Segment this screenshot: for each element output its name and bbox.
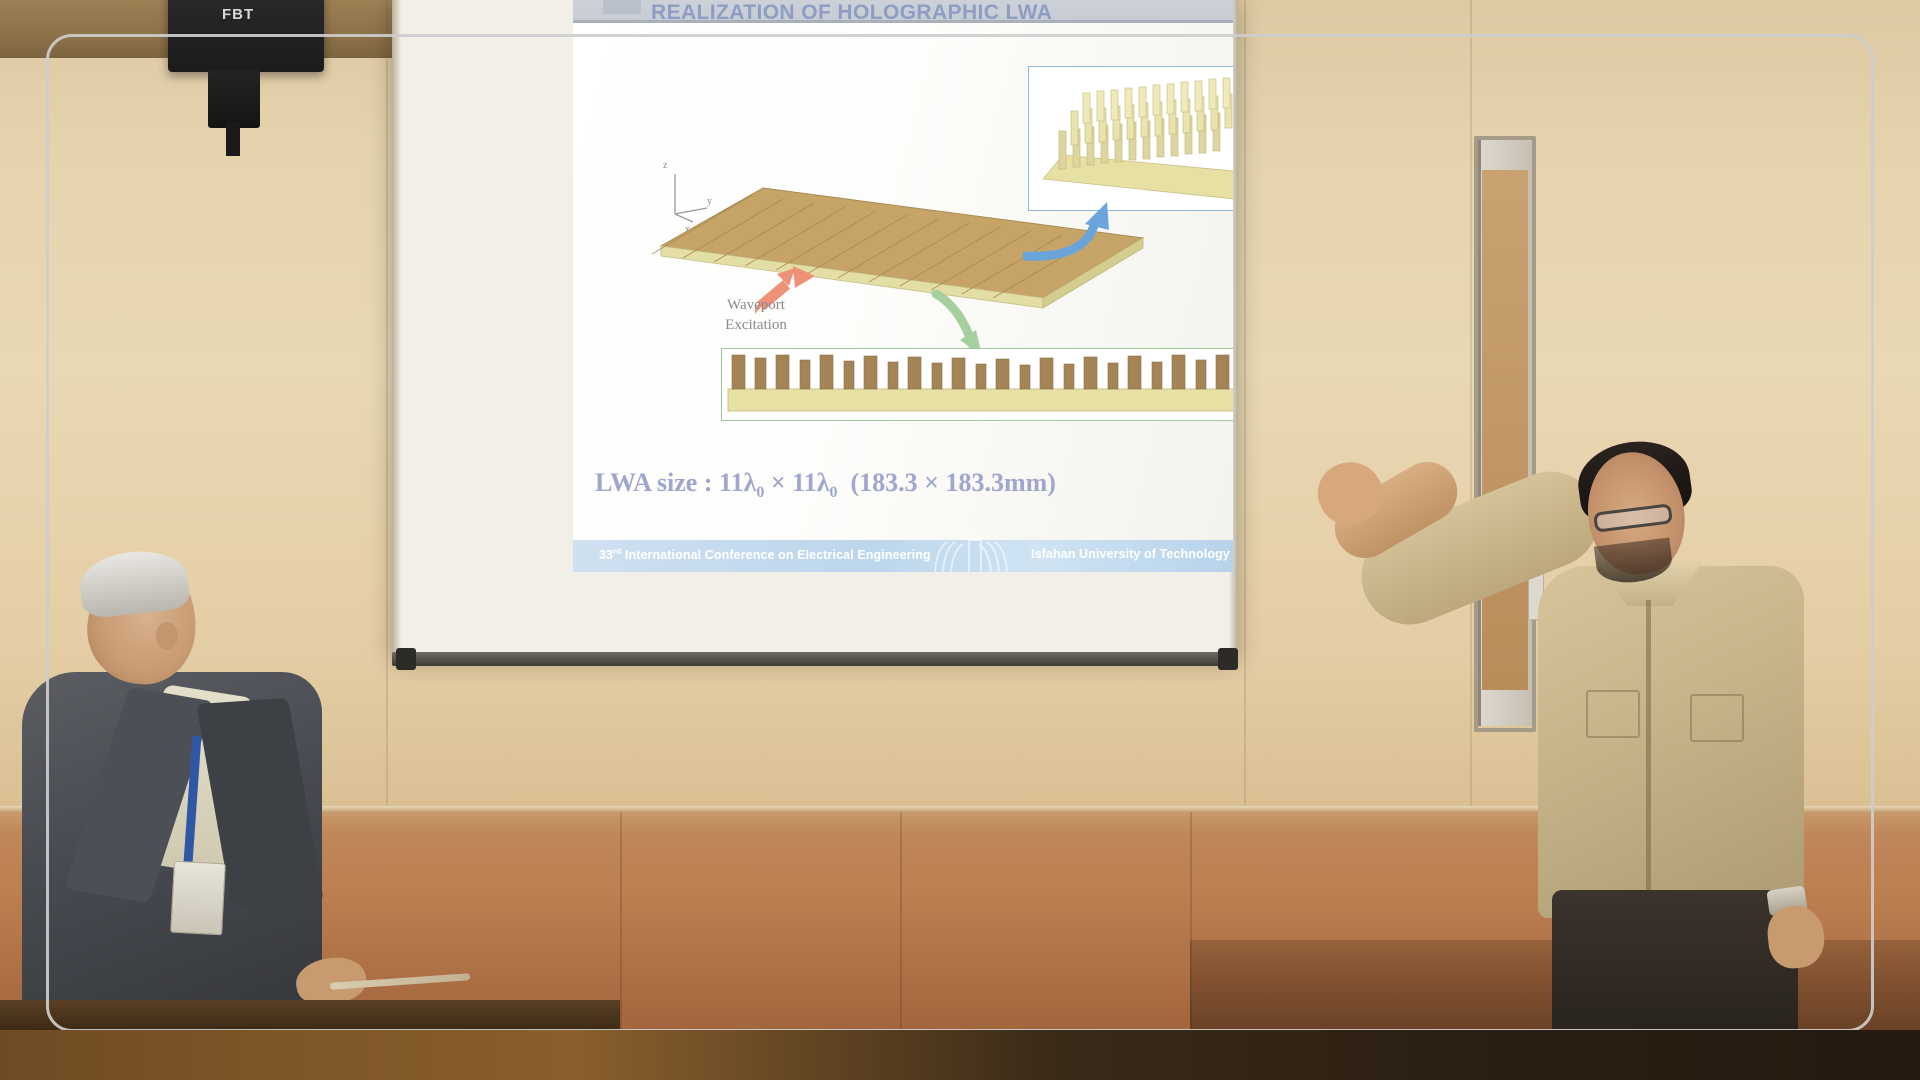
- wall-seam: [1244, 0, 1246, 820]
- pin-cross-section-drawing: [722, 349, 1233, 420]
- screen-foot-right: [1218, 648, 1238, 670]
- speaker-mount-bracket: [208, 70, 260, 128]
- table-surface: [0, 1000, 620, 1030]
- dado-tile-seam: [900, 812, 902, 1030]
- formula-sub-1: 0: [756, 484, 764, 501]
- slide-header-square: [603, 0, 641, 14]
- formula-term-1: 11λ: [719, 468, 756, 497]
- formula-term-2: 11λ: [792, 468, 829, 497]
- wall-seam: [386, 0, 388, 820]
- slide-footer-conference: 33rd International Conference on Electri…: [599, 547, 931, 562]
- screen-left-edge: [392, 0, 401, 656]
- presenter-shirt-placket: [1646, 600, 1651, 900]
- wood-wall-panel: [1482, 170, 1528, 690]
- lwa-size-formula: LWA size : 11λ0 × 11λ0 (183.3 × 183.3mm): [595, 468, 1215, 502]
- pin-cross-section-inset: [721, 348, 1233, 421]
- footer-conf-ordinal: rd: [613, 547, 621, 556]
- formula-prefix: LWA size :: [595, 468, 713, 497]
- formula-times: ×: [771, 468, 786, 497]
- waveport-label-line2: Excitation: [691, 315, 821, 335]
- presenter-shirt-pocket-left: [1586, 690, 1640, 738]
- iut-logo-icon: [925, 532, 1025, 572]
- wall-seam: [1470, 0, 1472, 820]
- presenter-trousers: [1552, 890, 1798, 1030]
- waveport-label-line1: Waveport: [691, 295, 821, 315]
- formula-sub-2: 0: [830, 484, 838, 501]
- slide-footer-university: Isfahan University of Technology: [1031, 547, 1230, 561]
- speaker-mount-arm: [226, 122, 240, 156]
- dado-tile-seam: [620, 812, 622, 1030]
- screen-foot-left: [396, 648, 416, 670]
- waveport-excitation-label: Waveport Excitation: [691, 295, 821, 336]
- screenshot-stage: FBT REALIZATION OF HOLOGRAPHIC LWA z y x: [0, 0, 1920, 1080]
- zoom-arrow-blue-icon: [1023, 200, 1143, 262]
- formula-dimensions: (183.3 × 183.3mm): [851, 468, 1056, 497]
- footer-conf-number: 33: [599, 548, 613, 562]
- projected-slide: REALIZATION OF HOLOGRAPHIC LWA z y x: [573, 0, 1233, 572]
- pin-array-3d-drawing: [1029, 67, 1233, 210]
- speaker-brand-label: FBT: [222, 6, 254, 23]
- pin-array-inset-3d: [1028, 66, 1233, 211]
- slide-header-rule: [573, 20, 1233, 23]
- footer-conf-name: International Conference on Electrical E…: [625, 548, 931, 562]
- seated-attendee-ear: [156, 622, 178, 650]
- screen-bottom-bar: [392, 652, 1238, 666]
- presenter-shirt-pocket-right: [1690, 694, 1744, 742]
- bottom-banner: سی و سومین کنفرانس مهندسی برق – روز اول …: [0, 1030, 1920, 1080]
- axis-label-z: z: [663, 160, 667, 171]
- presenter-torso: [1538, 566, 1804, 918]
- seated-attendee-badge: [170, 861, 226, 936]
- slide-footer-band: 33rd International Conference on Electri…: [573, 540, 1233, 572]
